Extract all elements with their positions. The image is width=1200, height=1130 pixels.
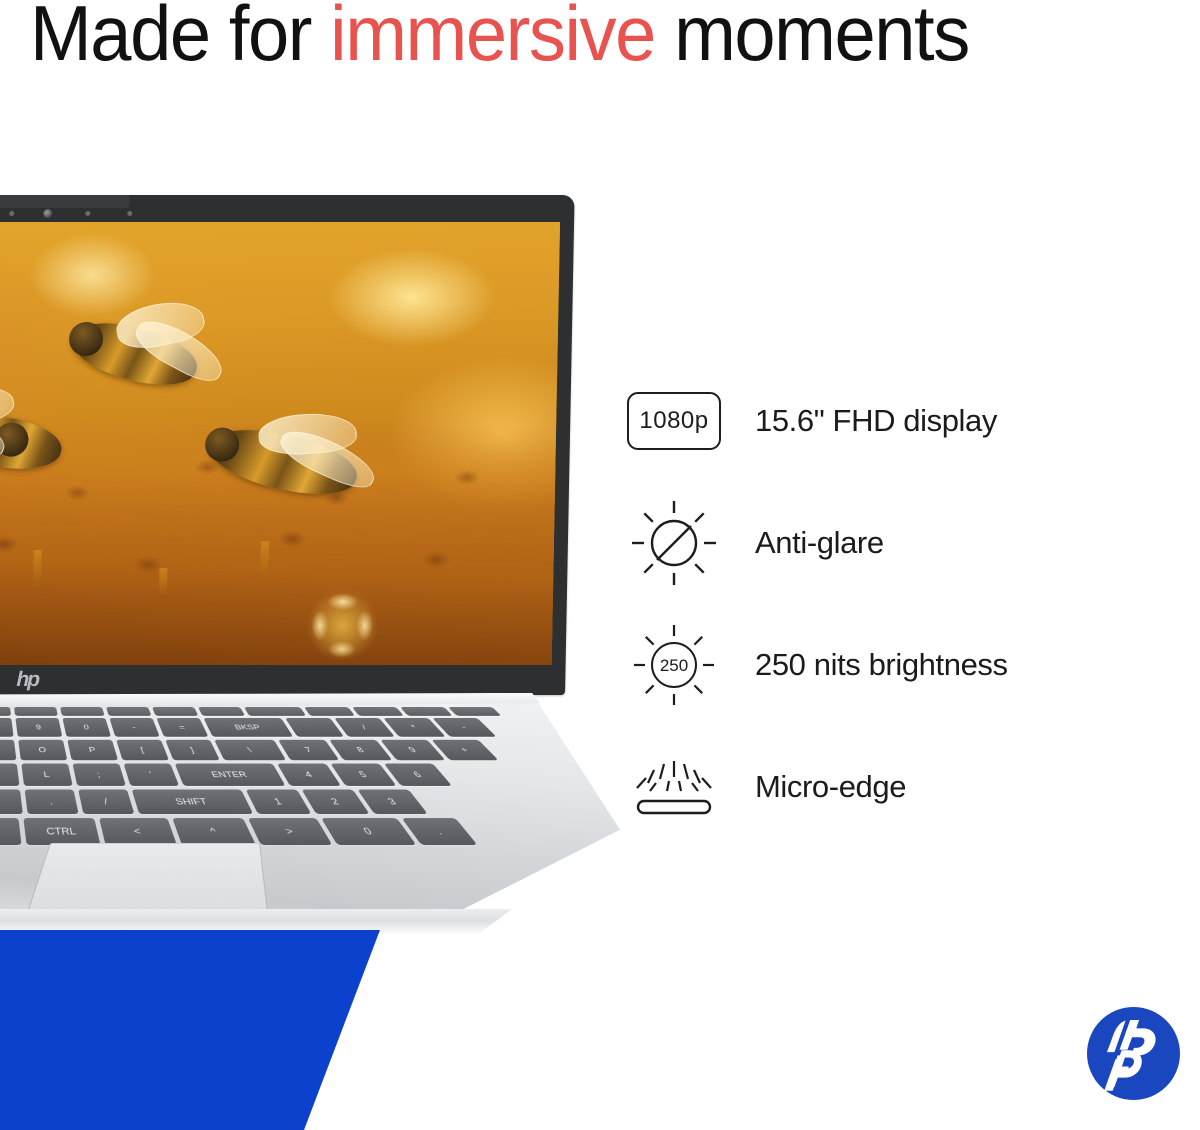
key-arrow-left: < — [99, 818, 177, 845]
feature-list: 1080p 15.6" FHD display — [622, 360, 1142, 848]
laptop-base: 5 6 7 8 9 0 - = BKSP / * - T Y — [0, 693, 640, 933]
feature-row-brightness: 250 250 nits brightness — [622, 604, 1142, 726]
key — [106, 707, 151, 716]
key: P — [67, 740, 118, 760]
feature-label-display: 15.6" FHD display — [755, 403, 997, 439]
feature-label-micro-edge: Micro-edge — [755, 769, 906, 805]
bezel-hp-logo: hp — [6, 668, 48, 691]
key — [352, 707, 404, 716]
keyboard-row-qwerty: T Y U I O P [ ] \ 7 8 9 + — [0, 740, 498, 760]
headline-part-two: moments — [655, 0, 969, 77]
laptop-screen — [0, 222, 560, 665]
touchpad — [28, 843, 268, 911]
key: , — [0, 790, 23, 815]
key: [ — [116, 740, 169, 760]
feature-row-anti-glare: Anti-glare — [622, 482, 1142, 604]
microphone-dot-mid — [85, 211, 90, 216]
key: I — [0, 740, 16, 760]
feature-label-anti-glare: Anti-glare — [755, 525, 884, 561]
key — [400, 707, 453, 716]
key — [285, 718, 344, 737]
flower — [298, 587, 385, 661]
key: 9 — [15, 718, 62, 737]
key-alt: ALT — [0, 818, 22, 845]
key: / — [78, 790, 134, 815]
keyboard-row-space: ALT CTRL < ^ > 0 . — [0, 818, 478, 845]
keyboard-row-numbers: 5 6 7 8 9 0 - = BKSP / * - — [0, 718, 496, 737]
microphone-dot-right — [127, 211, 132, 216]
key-shift: SHIFT — [132, 790, 254, 815]
keyboard: 5 6 7 8 9 0 - = BKSP / * - T Y — [0, 707, 711, 803]
key — [0, 707, 11, 716]
screen-wallpaper-honey — [0, 222, 560, 665]
key-backspace: BKSP — [203, 718, 293, 737]
bee-top — [66, 312, 204, 397]
anti-glare-sun-icon — [622, 495, 726, 591]
hp-logo — [1087, 1007, 1180, 1100]
key — [198, 707, 245, 716]
headline-part-one: Made for — [30, 0, 330, 77]
laptop-product-image: hp — [0, 195, 660, 940]
key: - — [109, 718, 159, 737]
webcam-notch — [0, 195, 130, 208]
key-ctrl: CTRL — [23, 818, 100, 845]
feature-row-micro-edge: Micro-edge — [622, 726, 1142, 848]
marketing-banner-image: Made for immersive moments — [0, 0, 1200, 1130]
page-title: Made for immersive moments — [30, 0, 969, 76]
bee-head — [65, 318, 108, 360]
key: = — [156, 718, 208, 737]
key-arrow-updown: ^ — [172, 818, 256, 845]
laptop-lid: hp — [0, 195, 575, 695]
brightness-sun-icon: 250 — [622, 617, 726, 713]
resolution-badge-label: 1080p — [627, 392, 721, 450]
key — [14, 707, 58, 716]
key — [152, 707, 198, 716]
key: 7 — [278, 740, 339, 760]
blue-accent-banner — [0, 930, 400, 1130]
keyboard-row-home: G H J K L ; ' ENTER 4 5 6 — [0, 764, 452, 786]
key: ; — [72, 764, 125, 786]
key — [60, 707, 105, 716]
resolution-1080p-icon: 1080p — [622, 373, 726, 469]
key: 1 — [246, 790, 312, 815]
key: 3 — [357, 790, 427, 815]
key: ' — [124, 764, 180, 786]
key: \ — [214, 740, 286, 760]
key: ] — [165, 740, 220, 760]
key: 4 — [277, 764, 341, 786]
webcam-lens-icon — [43, 209, 52, 218]
keyboard-row-bottom: B N M , . / SHIFT 1 2 3 — [0, 790, 428, 815]
key: 0 — [62, 718, 111, 737]
brightness-value-label: 250 — [660, 656, 688, 675]
key: O — [18, 740, 67, 760]
micro-edge-icon — [622, 739, 726, 835]
bee-head — [0, 420, 32, 459]
key: 0 — [321, 818, 416, 845]
headline-accent-word: immersive — [330, 0, 655, 77]
key: 8 — [0, 718, 14, 737]
key — [244, 707, 306, 716]
key: L — [21, 764, 72, 786]
key — [448, 707, 502, 716]
microphone-dot-left — [9, 211, 14, 216]
feature-label-brightness: 250 nits brightness — [755, 647, 1008, 683]
key: . — [25, 790, 79, 815]
key: K — [0, 764, 19, 786]
feature-row-display: 1080p 15.6" FHD display — [622, 360, 1142, 482]
key-arrow-right: > — [248, 818, 332, 845]
key — [304, 707, 355, 716]
key-enter: ENTER — [175, 764, 286, 786]
